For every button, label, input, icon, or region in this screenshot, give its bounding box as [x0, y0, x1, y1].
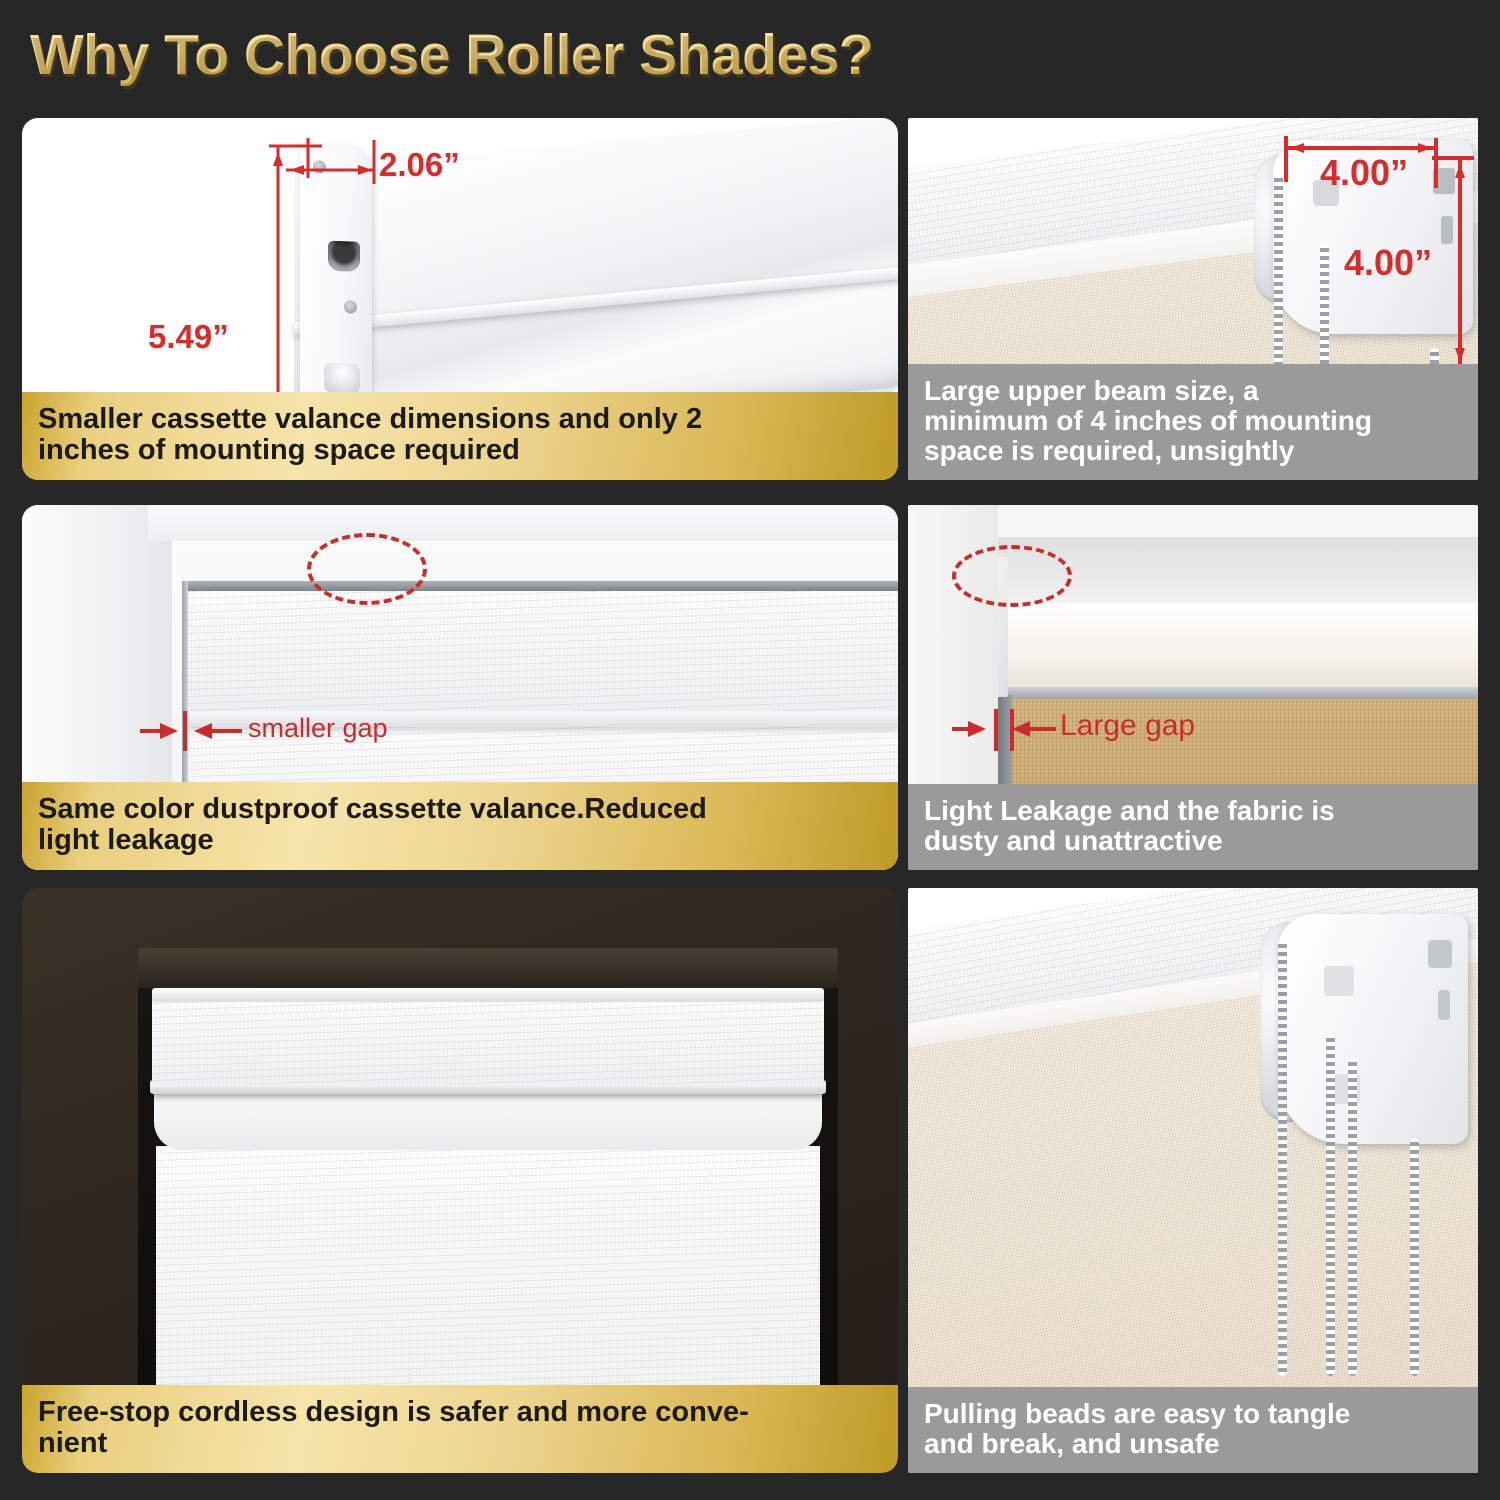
window-reveal-top	[138, 948, 838, 988]
caption-line: inches of mounting space required	[38, 435, 882, 466]
cassette-valance	[152, 996, 824, 1084]
bead-chain[interactable]	[1410, 1138, 1419, 1376]
panel-cordless-window: Free-stop cordless design is safer and m…	[22, 888, 898, 1473]
panel-caption: Free-stop cordless design is safer and m…	[22, 1385, 898, 1473]
height-dimension-label: 5.49”	[148, 318, 229, 356]
mounting-bracket	[1278, 914, 1468, 1144]
bracket-notch-icon	[1428, 940, 1452, 968]
bracket-logo-icon	[1324, 966, 1354, 996]
caption-line: and break, and unsafe	[924, 1429, 1462, 1459]
panel-cassette-dimensions: 5.49” 2.06” Smaller cassette valance dim…	[22, 118, 898, 480]
panel-light-leakage: Large gap Light Leakage and the fabric i…	[908, 505, 1478, 870]
depth-dimension-label: 2.06”	[379, 146, 460, 184]
caption-line: light leakage	[38, 825, 882, 856]
gap-label: smaller gap	[248, 713, 388, 744]
bead-chain[interactable]	[1326, 1034, 1335, 1376]
panel-caption: Pulling beads are easy to tangle and bre…	[908, 1387, 1478, 1473]
caption-line: space is required, unsightly	[924, 436, 1462, 466]
head-rail	[152, 988, 824, 1002]
panel-smaller-gap: smaller gap Same color dustproof cassett…	[22, 505, 898, 870]
caption-line: Free-stop cordless design is safer and m…	[38, 1397, 882, 1428]
gap-label: Large gap	[1060, 709, 1195, 743]
caption-line: Large upper beam size, a	[924, 376, 1462, 406]
caption-line: nient	[38, 1428, 882, 1459]
panel-pulling-beads: Pulling beads are easy to tangle and bre…	[908, 888, 1478, 1473]
panel-caption: Light Leakage and the fabric is dusty an…	[908, 784, 1478, 870]
bracket-notch-icon	[1438, 990, 1450, 1020]
panel-caption: Smaller cassette valance dimensions and …	[22, 392, 898, 480]
caption-line: Light Leakage and the fabric is	[924, 796, 1462, 826]
width-dimension-label: 4.00”	[1320, 152, 1408, 194]
caption-line: dusty and unattractive	[924, 826, 1462, 856]
caption-line: minimum of 4 inches of mounting	[924, 406, 1462, 436]
page-title: Why To Choose Roller Shades?	[30, 22, 873, 88]
caption-line: Same color dustproof cassette valance.Re…	[38, 794, 882, 825]
caption-line: Smaller cassette valance dimensions and …	[38, 404, 882, 435]
caption-line: Pulling beads are easy to tangle	[924, 1399, 1462, 1429]
panel-caption: Same color dustproof cassette valance.Re…	[22, 782, 898, 870]
panel-caption: Large upper beam size, a minimum of 4 in…	[908, 364, 1478, 480]
panel-large-beam: 4.00” 4.00” Large upper beam size, a min…	[908, 118, 1478, 480]
infographic-root: Why To Choose Roller Shades?	[0, 0, 1500, 1500]
bead-chain[interactable]	[1348, 1058, 1357, 1376]
roller-tube	[154, 1088, 822, 1150]
height-dimension-label: 4.00”	[1344, 242, 1432, 284]
bead-chain[interactable]	[1278, 940, 1287, 1376]
bead-chain-illustration	[908, 888, 1478, 1473]
